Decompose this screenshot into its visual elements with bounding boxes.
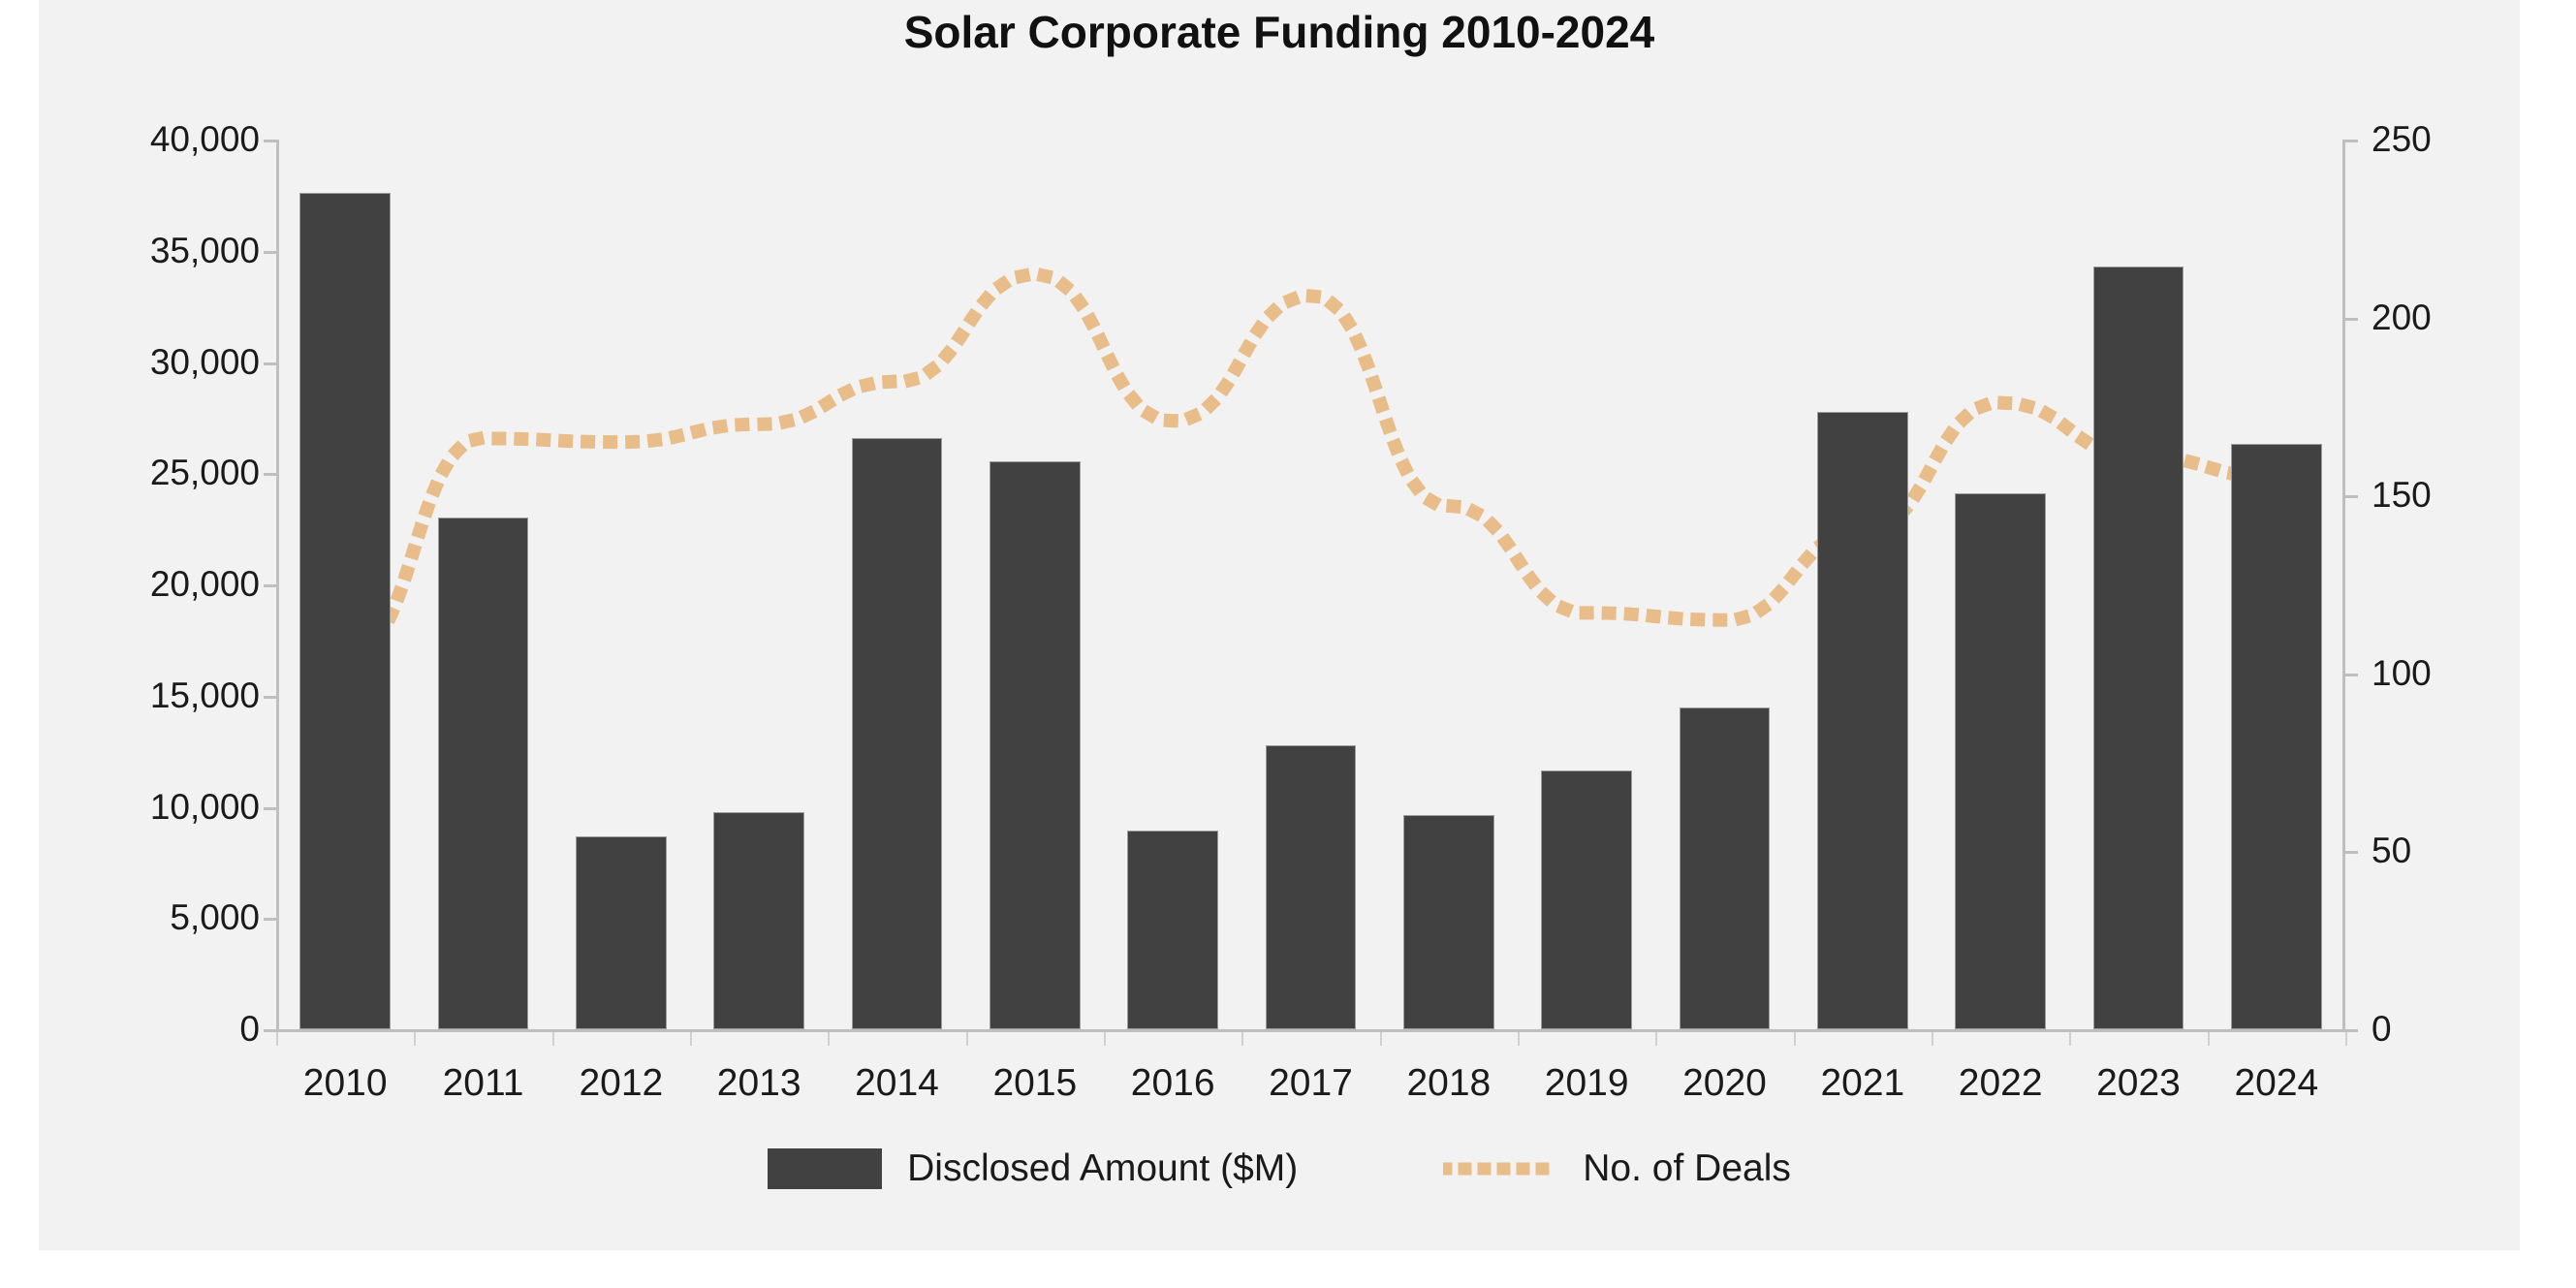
chart-panel: Solar Corporate Funding 2010-2024 05,000… bbox=[39, 0, 2520, 1250]
legend-label-no-of-deals: No. of Deals bbox=[1583, 1147, 1791, 1190]
right-axis-line bbox=[2342, 140, 2345, 1032]
y-axis-left-tick-label: 0 bbox=[239, 1009, 260, 1050]
bar-disclosed-amount[interactable] bbox=[1403, 815, 1494, 1029]
y-axis-left-tick-label: 10,000 bbox=[150, 787, 260, 828]
x-axis-category-label: 2017 bbox=[1269, 1062, 1353, 1105]
x-axis-tick bbox=[414, 1032, 416, 1046]
x-axis-tick bbox=[2345, 1032, 2347, 1046]
y-axis-left-tick-label: 15,000 bbox=[150, 675, 260, 716]
y-axis-right-tick-label: 50 bbox=[2372, 831, 2411, 871]
y-axis-right-tick-label: 0 bbox=[2372, 1009, 2392, 1050]
y-axis-right-tick bbox=[2345, 495, 2358, 498]
x-axis-tick bbox=[1794, 1032, 1796, 1046]
y-axis-left-tick bbox=[264, 584, 276, 587]
x-axis-tick bbox=[828, 1032, 830, 1046]
bar-disclosed-amount[interactable] bbox=[438, 518, 529, 1029]
y-axis-right-tick-label: 200 bbox=[2372, 298, 2432, 338]
bar-disclosed-amount[interactable] bbox=[1541, 770, 1632, 1029]
y-axis-left-tick-label: 5,000 bbox=[170, 897, 260, 938]
y-axis-left-tick-label: 30,000 bbox=[150, 342, 260, 383]
plot-area: 05,00010,00015,00020,00025,00030,00035,0… bbox=[276, 140, 2345, 1031]
page-margin-bottom bbox=[0, 1250, 2576, 1288]
x-axis-category-label: 2024 bbox=[2234, 1062, 2318, 1105]
chart-legend: Disclosed Amount ($M) No. of Deals bbox=[39, 1147, 2520, 1190]
bar-disclosed-amount[interactable] bbox=[1680, 707, 1771, 1029]
y-axis-left-tick bbox=[264, 362, 276, 365]
x-axis-tick bbox=[2208, 1032, 2210, 1046]
x-axis-tick bbox=[1518, 1032, 1520, 1046]
bar-disclosed-amount[interactable] bbox=[990, 461, 1081, 1029]
bar-disclosed-amount[interactable] bbox=[1266, 745, 1357, 1029]
bar-disclosed-amount[interactable] bbox=[713, 812, 804, 1029]
x-axis-category-label: 2019 bbox=[1545, 1062, 1629, 1105]
x-axis-category-label: 2010 bbox=[303, 1062, 388, 1105]
y-axis-left-tick bbox=[264, 807, 276, 810]
x-axis-category-label: 2021 bbox=[1820, 1062, 1904, 1105]
x-axis-category-label: 2018 bbox=[1406, 1062, 1491, 1105]
legend-item-no-of-deals[interactable]: No. of Deals bbox=[1443, 1147, 1791, 1190]
bar-disclosed-amount[interactable] bbox=[1127, 831, 1218, 1029]
x-axis-category-label: 2022 bbox=[1959, 1062, 2043, 1105]
page-margin-right bbox=[2520, 0, 2576, 1288]
x-axis-category-label: 2015 bbox=[992, 1062, 1077, 1105]
left-axis-line bbox=[276, 140, 279, 1032]
chart-title: Solar Corporate Funding 2010-2024 bbox=[39, 6, 2520, 58]
y-axis-left-tick bbox=[264, 140, 276, 142]
bar-disclosed-amount[interactable] bbox=[1955, 493, 2046, 1029]
y-axis-right-tick-label: 250 bbox=[2372, 119, 2432, 160]
x-axis-category-label: 2016 bbox=[1131, 1062, 1215, 1105]
bar-disclosed-amount[interactable] bbox=[576, 836, 667, 1029]
bar-disclosed-amount[interactable] bbox=[2231, 444, 2322, 1029]
x-axis-tick bbox=[1380, 1032, 1382, 1046]
y-axis-left-tick-label: 40,000 bbox=[150, 119, 260, 160]
x-axis-category-label: 2020 bbox=[1682, 1062, 1767, 1105]
legend-bar-swatch-icon bbox=[768, 1148, 882, 1189]
x-axis-tick bbox=[690, 1032, 692, 1046]
x-axis-category-label: 2011 bbox=[443, 1062, 524, 1105]
bar-disclosed-amount[interactable] bbox=[1817, 412, 1908, 1029]
y-axis-right-tick bbox=[2345, 140, 2358, 142]
y-axis-left-tick bbox=[264, 918, 276, 921]
page-margin-left bbox=[0, 0, 39, 1288]
x-axis-tick bbox=[1241, 1032, 1243, 1046]
y-axis-left-tick-label: 20,000 bbox=[150, 564, 260, 605]
chart-page: Solar Corporate Funding 2010-2024 05,000… bbox=[0, 0, 2576, 1288]
y-axis-right-tick bbox=[2345, 318, 2358, 321]
y-axis-right-tick-label: 150 bbox=[2372, 475, 2432, 516]
bottom-axis-line bbox=[276, 1029, 2345, 1032]
x-axis-tick bbox=[2069, 1032, 2071, 1046]
x-axis-tick bbox=[1104, 1032, 1106, 1046]
x-axis-tick bbox=[966, 1032, 968, 1046]
y-axis-left-tick bbox=[264, 251, 276, 254]
x-axis-category-label: 2012 bbox=[579, 1062, 663, 1105]
y-axis-right-tick bbox=[2345, 674, 2358, 676]
bar-disclosed-amount[interactable] bbox=[852, 438, 943, 1029]
y-axis-left-tick bbox=[264, 1029, 276, 1032]
x-axis-category-label: 2014 bbox=[855, 1062, 939, 1105]
x-axis-category-label: 2013 bbox=[717, 1062, 801, 1105]
y-axis-right-tick-label: 100 bbox=[2372, 653, 2432, 694]
y-axis-left-tick bbox=[264, 473, 276, 476]
legend-dotted-line-swatch-icon bbox=[1443, 1148, 1557, 1189]
y-axis-left-tick-label: 35,000 bbox=[150, 231, 260, 271]
x-axis-tick bbox=[1932, 1032, 1933, 1046]
x-axis-tick bbox=[552, 1032, 554, 1046]
bar-disclosed-amount[interactable] bbox=[299, 193, 391, 1029]
x-axis-category-label: 2023 bbox=[2096, 1062, 2181, 1105]
y-axis-left-tick-label: 25,000 bbox=[150, 453, 260, 493]
x-axis-tick bbox=[276, 1032, 278, 1046]
bar-disclosed-amount[interactable] bbox=[2093, 267, 2184, 1029]
legend-item-disclosed-amount[interactable]: Disclosed Amount ($M) bbox=[768, 1147, 1298, 1190]
y-axis-right-tick bbox=[2345, 851, 2358, 854]
y-axis-left-tick bbox=[264, 696, 276, 699]
x-axis-tick bbox=[1655, 1032, 1657, 1046]
legend-label-disclosed-amount: Disclosed Amount ($M) bbox=[907, 1147, 1298, 1190]
